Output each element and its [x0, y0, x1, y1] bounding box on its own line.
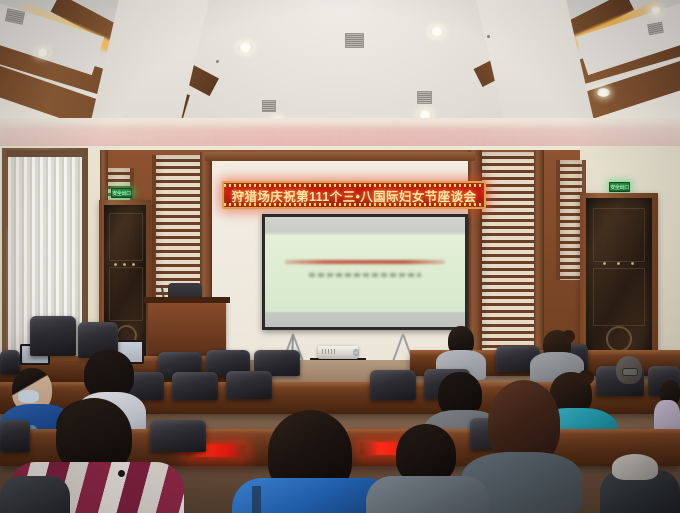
door-stud — [603, 262, 606, 265]
exit-sign-left: 安全出口 — [111, 188, 132, 198]
podium-top-surface — [144, 297, 230, 303]
chair[interactable] — [226, 371, 272, 399]
meeting-room-photo: 安全出口 安全出口 狩猎场庆祝第111个三•八国际妇女节座谈会 — [0, 0, 680, 513]
slide-body-text — [309, 273, 421, 277]
ceiling — [0, 0, 680, 152]
downlight — [36, 48, 49, 57]
slide-divider-rule — [283, 290, 447, 292]
chair[interactable] — [370, 370, 416, 400]
led-banner: 狩猎场庆祝第111个三•八国际妇女节座谈会 — [222, 181, 486, 209]
projection-screen — [262, 214, 468, 330]
door-panel — [109, 267, 143, 321]
exit-sign-label: 安全出口 — [610, 184, 628, 191]
wood-column — [534, 150, 544, 366]
person-head — [396, 424, 456, 484]
slide-accent-rule — [285, 260, 445, 264]
door-right[interactable] — [586, 198, 652, 368]
exit-sign-right: 安全出口 — [609, 182, 630, 192]
person-torso — [366, 476, 490, 513]
backpack-strap — [252, 486, 261, 513]
sprinkler-head — [216, 60, 219, 63]
door-ring-handle[interactable] — [606, 326, 632, 352]
door-stud — [617, 262, 620, 265]
person-hair-clip — [578, 370, 594, 385]
led-banner-text: 狩猎场庆祝第111个三•八国际妇女节座谈会 — [232, 186, 477, 205]
chair[interactable] — [172, 372, 218, 400]
exit-sign-label: 安全出口 — [112, 190, 130, 197]
door-stud — [132, 263, 135, 266]
downlight — [650, 6, 662, 15]
curtain-rail — [6, 150, 84, 157]
door-stud — [123, 263, 126, 266]
chair[interactable] — [0, 420, 30, 452]
door-stud — [631, 262, 634, 265]
air-vent — [262, 100, 276, 112]
chair[interactable] — [0, 350, 20, 374]
projection-screen-surface — [265, 217, 465, 327]
projector-lens — [353, 349, 359, 356]
projector-vents — [322, 349, 336, 354]
chair[interactable] — [30, 316, 76, 356]
face-mask — [18, 390, 39, 403]
downlight — [238, 42, 253, 53]
door-panel — [593, 208, 645, 262]
slide-content — [265, 235, 465, 312]
door-panel — [109, 213, 143, 261]
person-corner-left — [0, 476, 70, 513]
eyeglasses — [622, 368, 638, 376]
downlight — [430, 26, 444, 37]
podium-lectern — [148, 300, 226, 355]
coat-button — [118, 470, 125, 477]
sprinkler-head — [487, 35, 490, 38]
ceiling-center-panel — [175, 0, 505, 120]
chair[interactable] — [150, 420, 206, 452]
door-panel — [593, 268, 645, 326]
air-vent — [417, 91, 432, 104]
person-hair-bun — [562, 330, 575, 343]
air-vent — [345, 33, 364, 48]
downlight — [597, 88, 610, 97]
person-corner-right-head — [612, 454, 658, 480]
stage-header-trim — [205, 152, 475, 161]
door-stud — [114, 263, 117, 266]
